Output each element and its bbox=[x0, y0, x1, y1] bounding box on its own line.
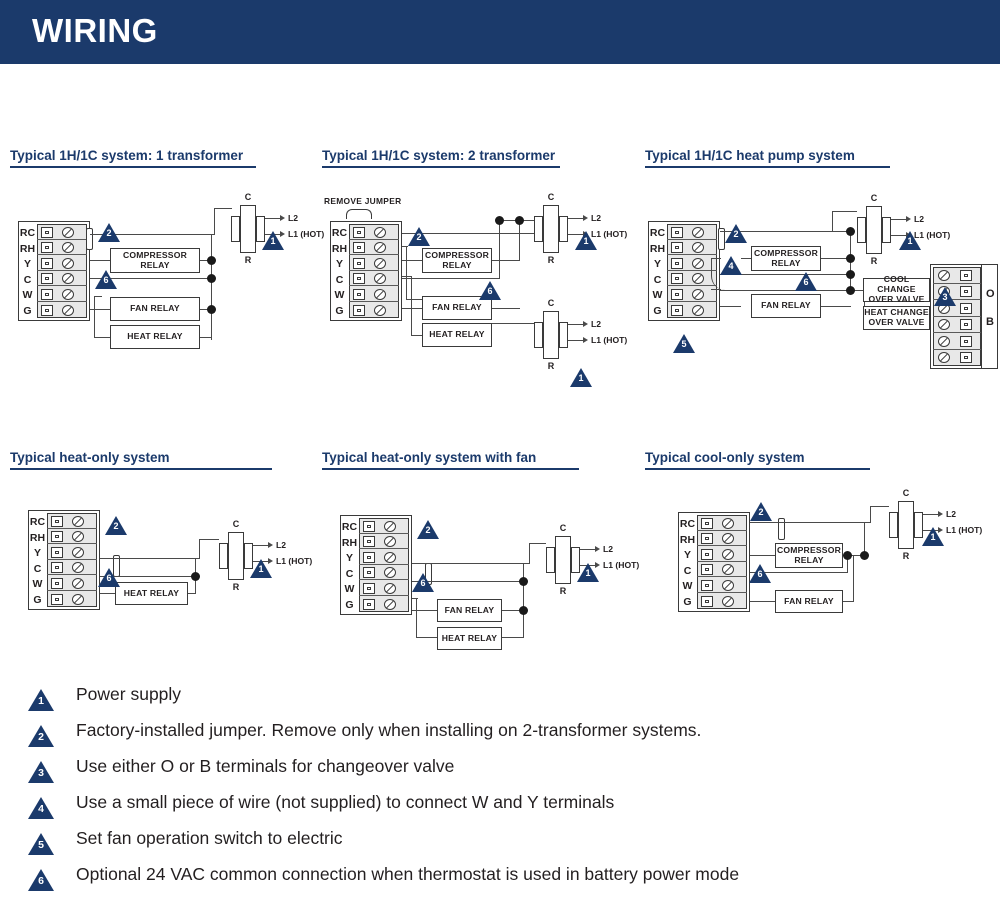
wire-w-line bbox=[720, 290, 851, 291]
badge-number: 2 bbox=[28, 732, 54, 743]
transformer-tab-left bbox=[889, 512, 898, 538]
wire-w-down bbox=[94, 296, 95, 338]
legend-item: 2 Factory-installed jumper. Remove only … bbox=[28, 720, 988, 756]
badge-number: 3 bbox=[934, 293, 956, 302]
wire-heat-out bbox=[502, 637, 524, 638]
wire-g-to-fan bbox=[90, 309, 110, 310]
callout-badge-1: 1 bbox=[575, 231, 597, 250]
wire-w-stub bbox=[412, 598, 418, 599]
legend: 1 Power supply 2 Factory-installed jumpe… bbox=[28, 684, 988, 900]
screw-icon bbox=[722, 549, 734, 560]
badge-number: 2 bbox=[725, 230, 747, 239]
terminal-label-c: C bbox=[330, 275, 349, 286]
badge-number: 2 bbox=[98, 229, 120, 238]
callout-badge-2: 2 bbox=[98, 223, 120, 242]
transformer-label-c: C bbox=[857, 193, 891, 203]
square-terminal-icon bbox=[41, 227, 53, 238]
lead-label-l2: L2 bbox=[288, 213, 298, 223]
square-terminal-icon bbox=[363, 521, 375, 532]
terminal-label-w: W bbox=[18, 290, 37, 301]
callout-badge-2: 2 bbox=[750, 502, 772, 521]
relay-heat: HEAT RELAY bbox=[422, 323, 492, 347]
screw-icon bbox=[722, 596, 734, 607]
remove-jumper-label: REMOVE JUMPER bbox=[324, 196, 401, 206]
wire-fan-out bbox=[492, 308, 520, 309]
badge-number: 1 bbox=[899, 237, 921, 246]
screw-icon bbox=[62, 289, 74, 300]
screw-icon bbox=[62, 258, 74, 269]
wire-c-common bbox=[402, 278, 500, 279]
wire-up-to-xfmr bbox=[199, 539, 200, 559]
screw-icon bbox=[62, 227, 74, 238]
transformer-label-c: C bbox=[546, 523, 580, 533]
transformer-label-r: R bbox=[534, 255, 568, 265]
relay-heat: HEAT RELAY bbox=[115, 582, 188, 605]
legend-badge-5: 5 bbox=[28, 833, 54, 855]
screw-icon bbox=[374, 227, 386, 238]
relay-heat: HEAT RELAY bbox=[110, 325, 200, 349]
square-terminal-icon bbox=[353, 227, 365, 238]
callout-badge-2: 2 bbox=[725, 224, 747, 243]
terminal-label-rc: RC bbox=[28, 517, 47, 528]
lead-label-l1: L1 (HOT) bbox=[288, 229, 324, 239]
square-terminal-icon bbox=[701, 549, 713, 560]
terminal-label-g: G bbox=[18, 306, 37, 317]
screw-icon bbox=[374, 258, 386, 269]
wire-up-to-xfmr bbox=[832, 211, 833, 232]
wire-to-xfmr-top bbox=[214, 208, 232, 209]
square-terminal-icon bbox=[671, 305, 683, 316]
lead-label-l2: L2 bbox=[591, 213, 601, 223]
diagram-typical-heat-only: Typical heat-only system RC RH Y C W bbox=[10, 450, 310, 630]
junction-dot bbox=[207, 256, 216, 265]
square-terminal-icon bbox=[51, 578, 63, 589]
transformer-tab-left bbox=[534, 322, 543, 348]
transformer-label-c: C bbox=[231, 192, 265, 202]
screw-icon bbox=[374, 242, 386, 253]
diagram-typical-cool-only: Typical cool-only system RC RH Y C W bbox=[645, 450, 1000, 645]
lead-label-l1: L1 (HOT) bbox=[276, 556, 312, 566]
badge-number: 6 bbox=[479, 287, 501, 296]
legend-text: Use a small piece of wire (not supplied)… bbox=[76, 792, 614, 813]
transformer-tab-left bbox=[219, 543, 228, 569]
screw-icon bbox=[384, 583, 396, 594]
screw-icon bbox=[938, 319, 950, 330]
terminal-label-w: W bbox=[648, 290, 667, 301]
callout-badge-3: 3 bbox=[934, 287, 956, 306]
wire-fan-up bbox=[853, 556, 854, 602]
legend-text: Set fan operation switch to electric bbox=[76, 828, 343, 849]
screw-icon bbox=[692, 258, 704, 269]
transformer-tab-left bbox=[546, 547, 555, 573]
screw-icon bbox=[384, 552, 396, 563]
relay-fan: FAN RELAY bbox=[437, 599, 502, 622]
screw-icon bbox=[722, 580, 734, 591]
badge-number: 4 bbox=[28, 804, 54, 815]
wire-g-to-fan bbox=[750, 601, 775, 602]
relay-heat-changeover: HEAT CHANGE OVER VALVE bbox=[863, 306, 930, 330]
lead-label-l2: L2 bbox=[591, 319, 601, 329]
terminal-label-w: W bbox=[678, 581, 697, 592]
square-terminal-icon bbox=[41, 305, 53, 316]
legend-text: Optional 24 VAC common connection when t… bbox=[76, 864, 739, 885]
wire-vertical bbox=[214, 208, 215, 235]
transformer-label-c: C bbox=[219, 519, 253, 529]
square-terminal-icon bbox=[363, 599, 375, 610]
lead-label-l2: L2 bbox=[914, 214, 924, 224]
transformer-tab-right bbox=[559, 216, 568, 242]
lead-arrow-l2 bbox=[595, 546, 600, 552]
junction-dot bbox=[207, 305, 216, 314]
lead-arrow-l1 bbox=[583, 337, 588, 343]
badge-number: 2 bbox=[105, 522, 127, 531]
callout-badge-4: 4 bbox=[720, 256, 742, 275]
junction-dot bbox=[846, 286, 855, 295]
callout-badge-6: 6 bbox=[479, 281, 501, 300]
transformer-body bbox=[866, 206, 882, 254]
badge-number: 1 bbox=[922, 533, 944, 542]
terminal-label-rh: RH bbox=[648, 244, 667, 255]
legend-text: Factory-installed jumper. Remove only wh… bbox=[76, 720, 701, 741]
relay-heat: HEAT RELAY bbox=[437, 627, 502, 650]
diagram-title: Typical cool-only system bbox=[645, 450, 1000, 465]
diagram-title: Typical 1H/1C system: 1 transformer bbox=[10, 148, 310, 163]
square-terminal-icon bbox=[701, 564, 713, 575]
relay-fan: FAN RELAY bbox=[775, 590, 843, 613]
screw-icon bbox=[72, 531, 84, 542]
square-terminal-icon bbox=[41, 289, 53, 300]
lead-line-l2 bbox=[580, 549, 596, 550]
transformer-body bbox=[898, 501, 914, 549]
terminal-label-y: Y bbox=[330, 259, 349, 270]
legend-badge-6: 6 bbox=[28, 869, 54, 891]
square-terminal-icon bbox=[701, 533, 713, 544]
badge-number: 1 bbox=[262, 237, 284, 246]
transformer-label-r: R bbox=[219, 582, 253, 592]
lead-line-l2 bbox=[568, 324, 584, 325]
terminal-label-rh: RH bbox=[340, 538, 359, 549]
wire-c-up bbox=[499, 220, 500, 279]
screw-icon bbox=[72, 562, 84, 573]
callout-badge-6: 6 bbox=[749, 564, 771, 583]
wire-rc-to-transformer bbox=[750, 522, 871, 523]
wire-rh-to-transformer bbox=[412, 563, 530, 564]
terminal-label-rc: RC bbox=[340, 522, 359, 533]
transformer-body bbox=[555, 536, 571, 584]
terminal-label-rc: RC bbox=[678, 519, 697, 530]
callout-badge-5: 5 bbox=[673, 334, 695, 353]
junction-dot bbox=[846, 270, 855, 279]
relay-fan: FAN RELAY bbox=[751, 294, 821, 318]
terminal-label-rc: RC bbox=[18, 228, 37, 239]
wire-w-to-heat bbox=[94, 337, 110, 338]
relay-compressor: COMPRESSOR RELAY bbox=[422, 248, 492, 273]
lead-arrow-l2 bbox=[583, 215, 588, 221]
square-terminal-icon bbox=[960, 352, 972, 363]
transformer-tab-left bbox=[534, 216, 543, 242]
terminal-label-w: W bbox=[340, 584, 359, 595]
relay-cool-changeover: COOL CHANGE OVER VALVE bbox=[863, 278, 930, 302]
transformer-label-c: C bbox=[889, 488, 923, 498]
screw-icon bbox=[72, 578, 84, 589]
wire-w-stub bbox=[402, 276, 412, 277]
square-terminal-icon bbox=[960, 336, 972, 347]
badge-number: 1 bbox=[575, 237, 597, 246]
junction-dot bbox=[519, 606, 528, 615]
wire-fan-out bbox=[821, 306, 851, 307]
terminal-label-g: G bbox=[330, 306, 349, 317]
lead-line-l2 bbox=[891, 219, 907, 220]
square-terminal-icon bbox=[353, 273, 365, 284]
legend-badge-4: 4 bbox=[28, 797, 54, 819]
terminal-label-c: C bbox=[648, 275, 667, 286]
square-terminal-icon bbox=[353, 305, 365, 316]
badge-number: 3 bbox=[28, 768, 54, 779]
square-terminal-icon bbox=[671, 273, 683, 284]
wire-compressor-out bbox=[492, 260, 520, 261]
square-terminal-icon bbox=[960, 319, 972, 330]
square-terminal-icon bbox=[353, 258, 365, 269]
callout-badge-1: 1 bbox=[250, 559, 272, 578]
callout-badge-1: 1 bbox=[577, 563, 599, 582]
relay-compressor: COMPRESSOR RELAY bbox=[110, 248, 200, 273]
transformer-label-r: R bbox=[534, 361, 568, 371]
square-terminal-icon bbox=[671, 258, 683, 269]
legend-badge-3: 3 bbox=[28, 761, 54, 783]
callout-badge-2: 2 bbox=[408, 227, 430, 246]
junction-dot bbox=[515, 216, 524, 225]
square-terminal-icon bbox=[363, 536, 375, 547]
page-header: WIRING bbox=[0, 0, 1000, 64]
callout-badge-1: 1 bbox=[899, 231, 921, 250]
badge-number: 5 bbox=[673, 340, 695, 349]
screw-icon bbox=[384, 521, 396, 532]
square-terminal-icon bbox=[701, 580, 713, 591]
screw-icon bbox=[384, 536, 396, 547]
square-terminal-icon bbox=[960, 286, 972, 297]
wire-w-stub bbox=[94, 296, 102, 297]
screw-icon bbox=[692, 227, 704, 238]
square-terminal-icon bbox=[960, 270, 972, 281]
lead-line-l2 bbox=[253, 545, 269, 546]
screw-icon bbox=[62, 273, 74, 284]
diagram-typical-1h1c-1-transformer: Typical 1H/1C system: 1 transformer RC R… bbox=[10, 148, 310, 363]
terminal-label-y: Y bbox=[28, 548, 47, 559]
terminal-label-rh: RH bbox=[28, 533, 47, 544]
transformer-body bbox=[543, 205, 559, 253]
terminal-label-w: W bbox=[330, 290, 349, 301]
wire-heat-out bbox=[492, 323, 535, 324]
square-terminal-icon bbox=[671, 242, 683, 253]
terminal-label-y: Y bbox=[648, 259, 667, 270]
square-terminal-icon bbox=[363, 567, 375, 578]
terminal-label-rh: RH bbox=[330, 244, 349, 255]
transformer-label-r: R bbox=[231, 255, 265, 265]
junction-dot bbox=[191, 572, 200, 581]
wire-rh-stub bbox=[402, 246, 408, 247]
badge-number: 2 bbox=[408, 233, 430, 242]
terminal-label-c: C bbox=[28, 564, 47, 575]
screw-icon bbox=[722, 533, 734, 544]
terminal-label-rc: RC bbox=[330, 228, 349, 239]
badge-number: 6 bbox=[98, 574, 120, 583]
lead-arrow-l2 bbox=[583, 321, 588, 327]
screw-icon bbox=[692, 273, 704, 284]
badge-number: 4 bbox=[720, 262, 742, 271]
badge-number: 6 bbox=[95, 276, 117, 285]
screw-icon bbox=[72, 516, 84, 527]
screw-icon bbox=[72, 594, 84, 605]
junction-dot bbox=[519, 577, 528, 586]
legend-item: 3 Use either O or B terminals for change… bbox=[28, 756, 988, 792]
lead-label-l1: L1 (HOT) bbox=[591, 335, 627, 345]
badge-number: 2 bbox=[417, 526, 439, 535]
badge-number: 2 bbox=[750, 508, 772, 517]
badge-number: 1 bbox=[570, 374, 592, 383]
junction-dot bbox=[846, 227, 855, 236]
terminal-label-c: C bbox=[18, 275, 37, 286]
callout-badge-6: 6 bbox=[412, 573, 434, 592]
wire-w-to-heat bbox=[100, 593, 115, 594]
legend-badge-2: 2 bbox=[28, 725, 54, 747]
badge-number: 6 bbox=[412, 579, 434, 588]
screw-icon bbox=[692, 242, 704, 253]
wire-w-to-heat bbox=[416, 637, 437, 638]
terminal-label-g: G bbox=[340, 600, 359, 611]
callout-badge-6: 6 bbox=[795, 272, 817, 291]
wire-up-to-xfmr bbox=[529, 543, 530, 564]
lead-label-l1: L1 (HOT) bbox=[603, 560, 639, 570]
screw-icon bbox=[72, 547, 84, 558]
lead-label-l2: L2 bbox=[946, 509, 956, 519]
changeover-label-o: O bbox=[986, 288, 995, 300]
transformer-label-r: R bbox=[889, 551, 923, 561]
terminal-label-y: Y bbox=[18, 259, 37, 270]
diagram-typical-1h1c-heat-pump: Typical 1H/1C heat pump system RC RH Y C… bbox=[645, 148, 1000, 388]
square-terminal-icon bbox=[41, 242, 53, 253]
wire-rh-to-transformer bbox=[100, 558, 200, 559]
terminal-label-c: C bbox=[340, 569, 359, 580]
screw-icon bbox=[374, 273, 386, 284]
transformer-tab-right bbox=[559, 322, 568, 348]
relay-compressor: COMPRESSOR RELAY bbox=[751, 246, 821, 271]
screw-icon bbox=[692, 305, 704, 316]
lead-arrow-l2 bbox=[906, 216, 911, 222]
junction-dot bbox=[843, 551, 852, 560]
wire-g-to-fan bbox=[720, 306, 741, 307]
callout-badge-1: 1 bbox=[922, 527, 944, 546]
terminal-label-g: G bbox=[28, 595, 47, 606]
square-terminal-icon bbox=[51, 594, 63, 605]
wire-y-to-compressor bbox=[402, 260, 422, 261]
square-terminal-icon bbox=[353, 242, 365, 253]
terminal-label-y: Y bbox=[340, 553, 359, 564]
screw-icon bbox=[938, 336, 950, 347]
diagram-title: Typical heat-only system with fan bbox=[322, 450, 632, 465]
square-terminal-icon bbox=[41, 258, 53, 269]
transformer-body bbox=[240, 205, 256, 253]
square-terminal-icon bbox=[701, 596, 713, 607]
lead-label-l1: L1 (HOT) bbox=[946, 525, 982, 535]
wire-w-down bbox=[411, 276, 412, 336]
wire-common-bus bbox=[211, 260, 212, 340]
wire-compressor-up bbox=[519, 220, 520, 261]
page-title: WIRING bbox=[32, 12, 158, 50]
transformer-label-c: C bbox=[534, 192, 568, 202]
junction-dot bbox=[207, 274, 216, 283]
callout-badge-1: 1 bbox=[570, 368, 592, 387]
wire-to-xfmr-top bbox=[529, 543, 546, 544]
lead-label-l2: L2 bbox=[276, 540, 286, 550]
badge-number: 6 bbox=[749, 570, 771, 579]
terminal-label-w: W bbox=[28, 579, 47, 590]
callout-badge-1: 1 bbox=[262, 231, 284, 250]
relay-compressor: COMPRESSOR RELAY bbox=[775, 543, 843, 568]
junction-dot bbox=[495, 216, 504, 225]
lead-line-l2 bbox=[923, 514, 939, 515]
screw-icon bbox=[374, 305, 386, 316]
square-terminal-icon bbox=[671, 227, 683, 238]
legend-item: 1 Power supply bbox=[28, 684, 988, 720]
square-terminal-icon bbox=[51, 531, 63, 542]
square-terminal-icon bbox=[353, 289, 365, 300]
lead-label-l2: L2 bbox=[603, 544, 613, 554]
screw-icon bbox=[938, 270, 950, 281]
transformer-label-c: C bbox=[534, 298, 568, 308]
transformer-tab-left bbox=[857, 217, 866, 243]
badge-number: 1 bbox=[250, 565, 272, 574]
square-terminal-icon bbox=[51, 547, 63, 558]
wire-g-to-fan bbox=[402, 308, 422, 309]
changeover-label-b: B bbox=[986, 316, 994, 328]
badge-number: 5 bbox=[28, 840, 54, 851]
legend-item: 5 Set fan operation switch to electric bbox=[28, 828, 988, 864]
relay-fan: FAN RELAY bbox=[110, 297, 200, 321]
diagram-title: Typical 1H/1C system: 2 transformer bbox=[322, 148, 632, 163]
screw-icon bbox=[384, 599, 396, 610]
screw-icon bbox=[722, 518, 734, 529]
screw-icon bbox=[722, 564, 734, 575]
lead-line-l1 bbox=[568, 340, 584, 341]
square-terminal-icon bbox=[41, 273, 53, 284]
callout-badge-2: 2 bbox=[105, 516, 127, 535]
lead-arrow-l2 bbox=[938, 511, 943, 517]
transformer-label-r: R bbox=[546, 586, 580, 596]
wire-rh-to-heat bbox=[406, 299, 422, 300]
legend-text: Use either O or B terminals for changeov… bbox=[76, 756, 454, 777]
legend-badge-1: 1 bbox=[28, 689, 54, 711]
lead-arrow-l2 bbox=[280, 215, 285, 221]
wire-rh-down bbox=[406, 246, 407, 300]
terminal-label-g: G bbox=[648, 306, 667, 317]
wire-w-down bbox=[416, 598, 417, 638]
diagram-typical-1h1c-2-transformer: Typical 1H/1C system: 2 transformer REMO… bbox=[322, 148, 632, 398]
legend-item: 4 Use a small piece of wire (not supplie… bbox=[28, 792, 988, 828]
screw-icon bbox=[62, 305, 74, 316]
screw-icon bbox=[62, 242, 74, 253]
square-terminal-icon bbox=[51, 516, 63, 527]
jumper-clip bbox=[86, 228, 93, 250]
wire-y-to-compressor bbox=[741, 258, 751, 259]
wire-to-xfmr-top bbox=[870, 506, 889, 507]
square-terminal-icon bbox=[701, 518, 713, 529]
junction-dot bbox=[846, 254, 855, 263]
transformer-body bbox=[228, 532, 244, 580]
wire-heat-out bbox=[200, 337, 211, 338]
junction-dot bbox=[860, 551, 869, 560]
terminal-label-g: G bbox=[678, 597, 697, 608]
transformer-tab-left bbox=[231, 216, 240, 242]
